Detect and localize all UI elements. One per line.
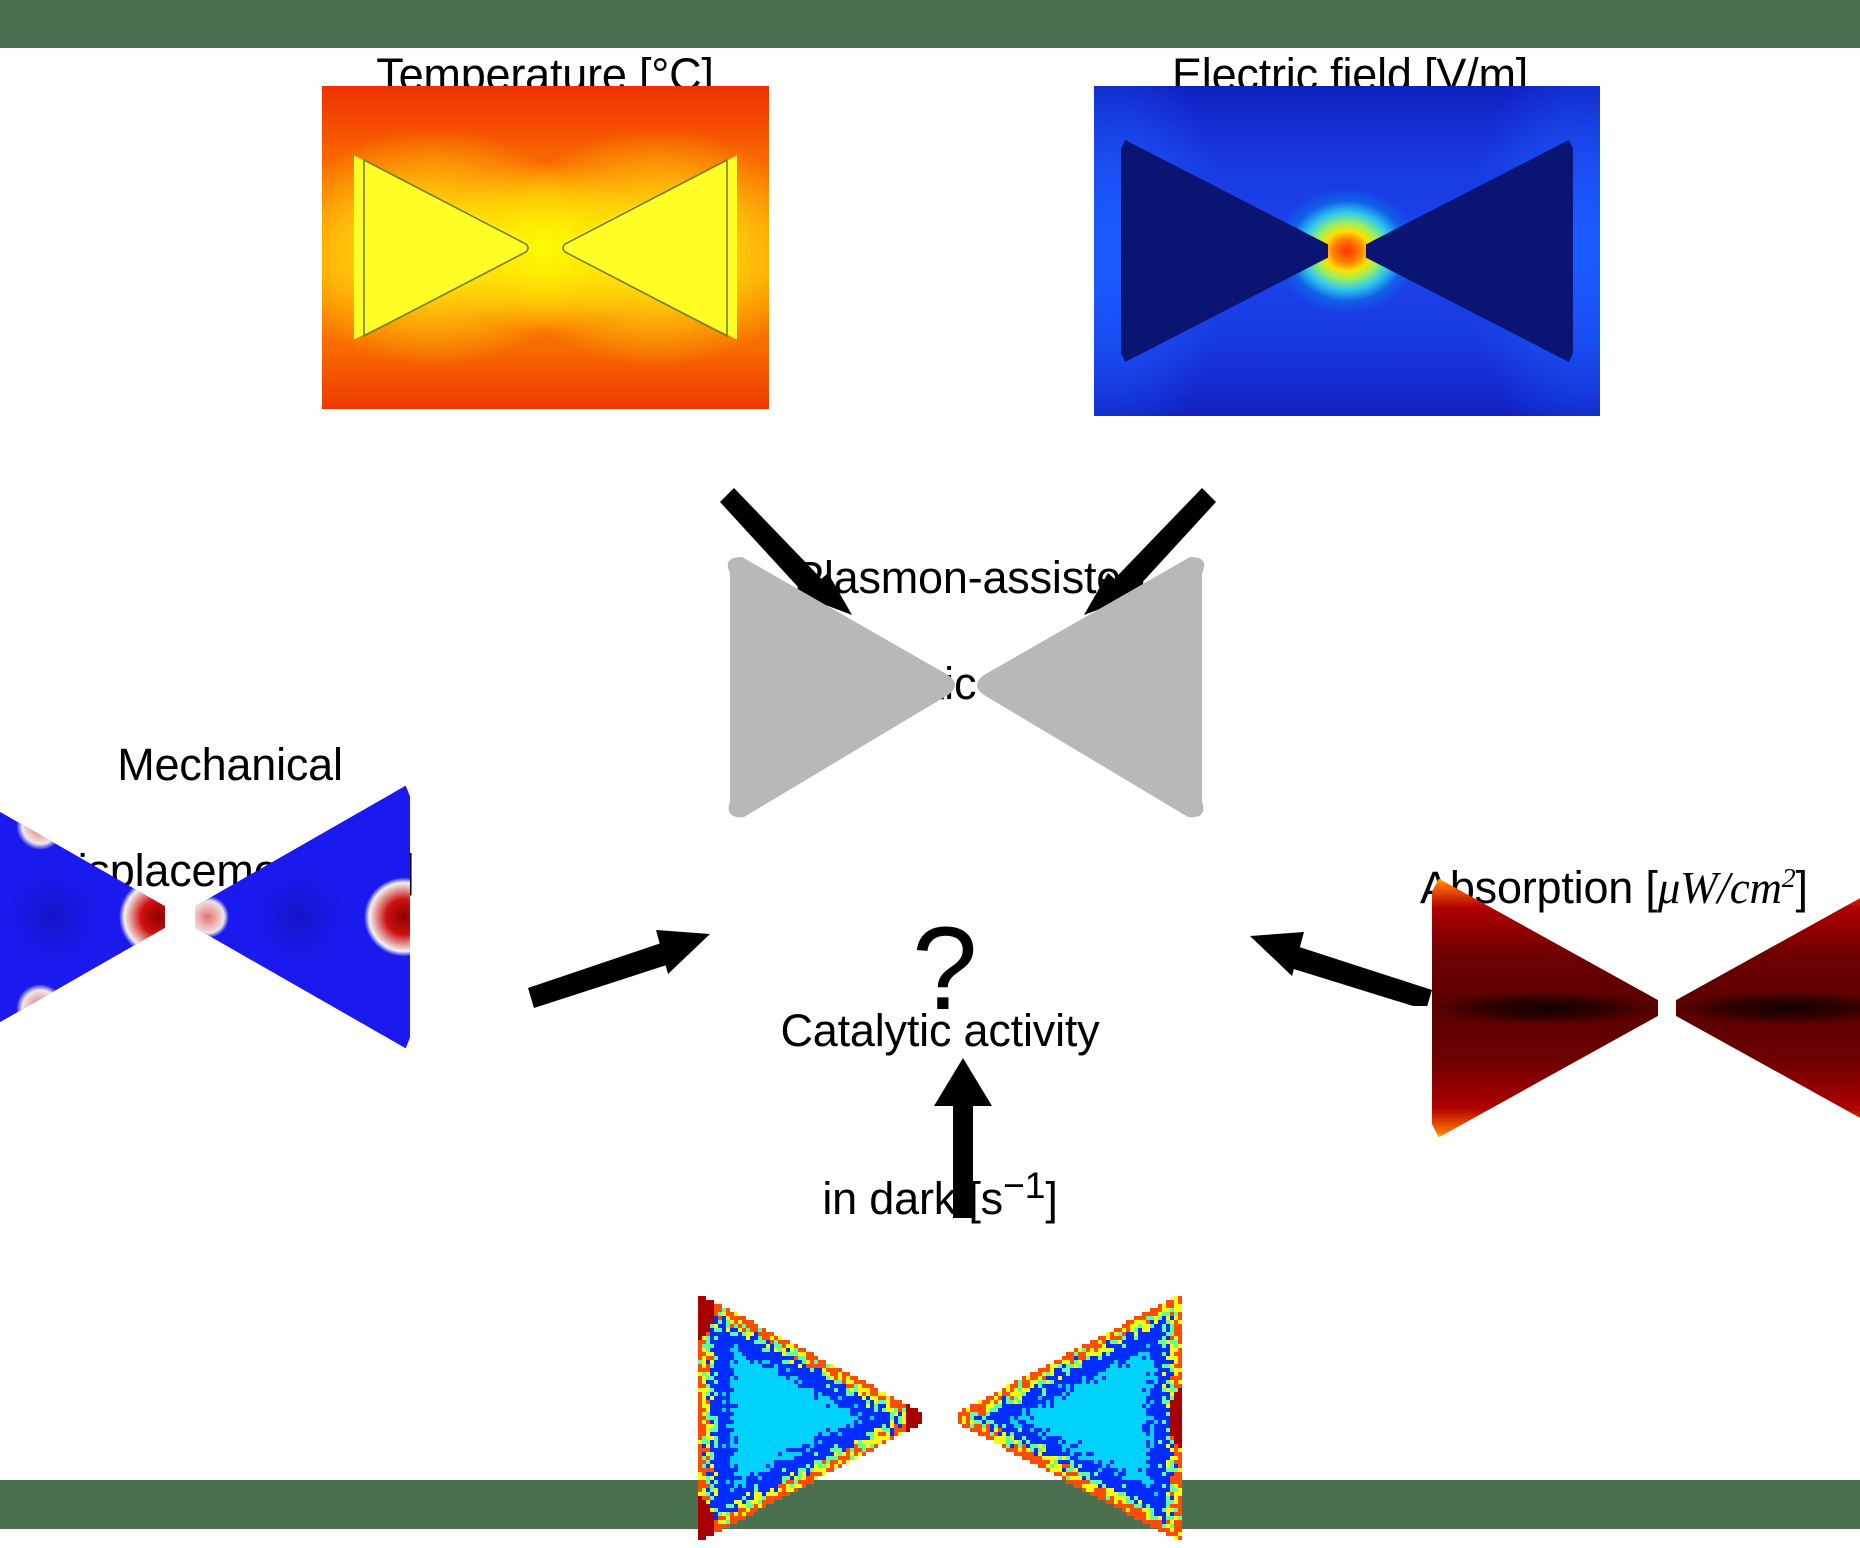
arrow-from-mechanical: [524, 922, 714, 1008]
catalytic-dark-label-exponent: −1: [1003, 1164, 1045, 1206]
temperature-outline-right: [561, 148, 737, 348]
catalytic-dark-label-suffix: ]: [1045, 1173, 1057, 1224]
absorption-map: [1432, 876, 1860, 1140]
electric-field-map: [1094, 86, 1600, 416]
catalytic-dark-label-line1: Catalytic activity: [700, 1004, 1180, 1057]
catalytic-dark-canvas: [690, 1288, 1190, 1548]
temperature-outline-left: [354, 148, 530, 348]
catalytic-dark-map: [690, 1288, 1190, 1548]
catalytic-dark-label: Catalytic activity in dark [s−1]: [700, 951, 1180, 1279]
efield-bowtie-left: [1121, 140, 1328, 362]
temperature-map: [322, 86, 769, 409]
mechanical-displacement-map: [0, 783, 410, 1051]
arrow-from-absorption: [1246, 920, 1436, 1006]
catalytic-dark-label-line2: in dark [s−1]: [700, 1110, 1180, 1225]
efield-bowtie-right: [1366, 140, 1573, 362]
mech-triangle-left: [0, 783, 165, 1051]
absorption-triangle-right: [1676, 876, 1860, 1140]
catalytic-dark-label-prefix: in dark [s: [822, 1173, 1003, 1224]
mech-triangle-right: [195, 783, 410, 1051]
central-gray-bowtie: [712, 551, 1220, 823]
top-green-band: [0, 0, 1860, 48]
figure-stage: Temperature [°C] Electric field [V/m]: [0, 48, 1860, 1480]
absorption-triangle-left: [1432, 876, 1658, 1140]
